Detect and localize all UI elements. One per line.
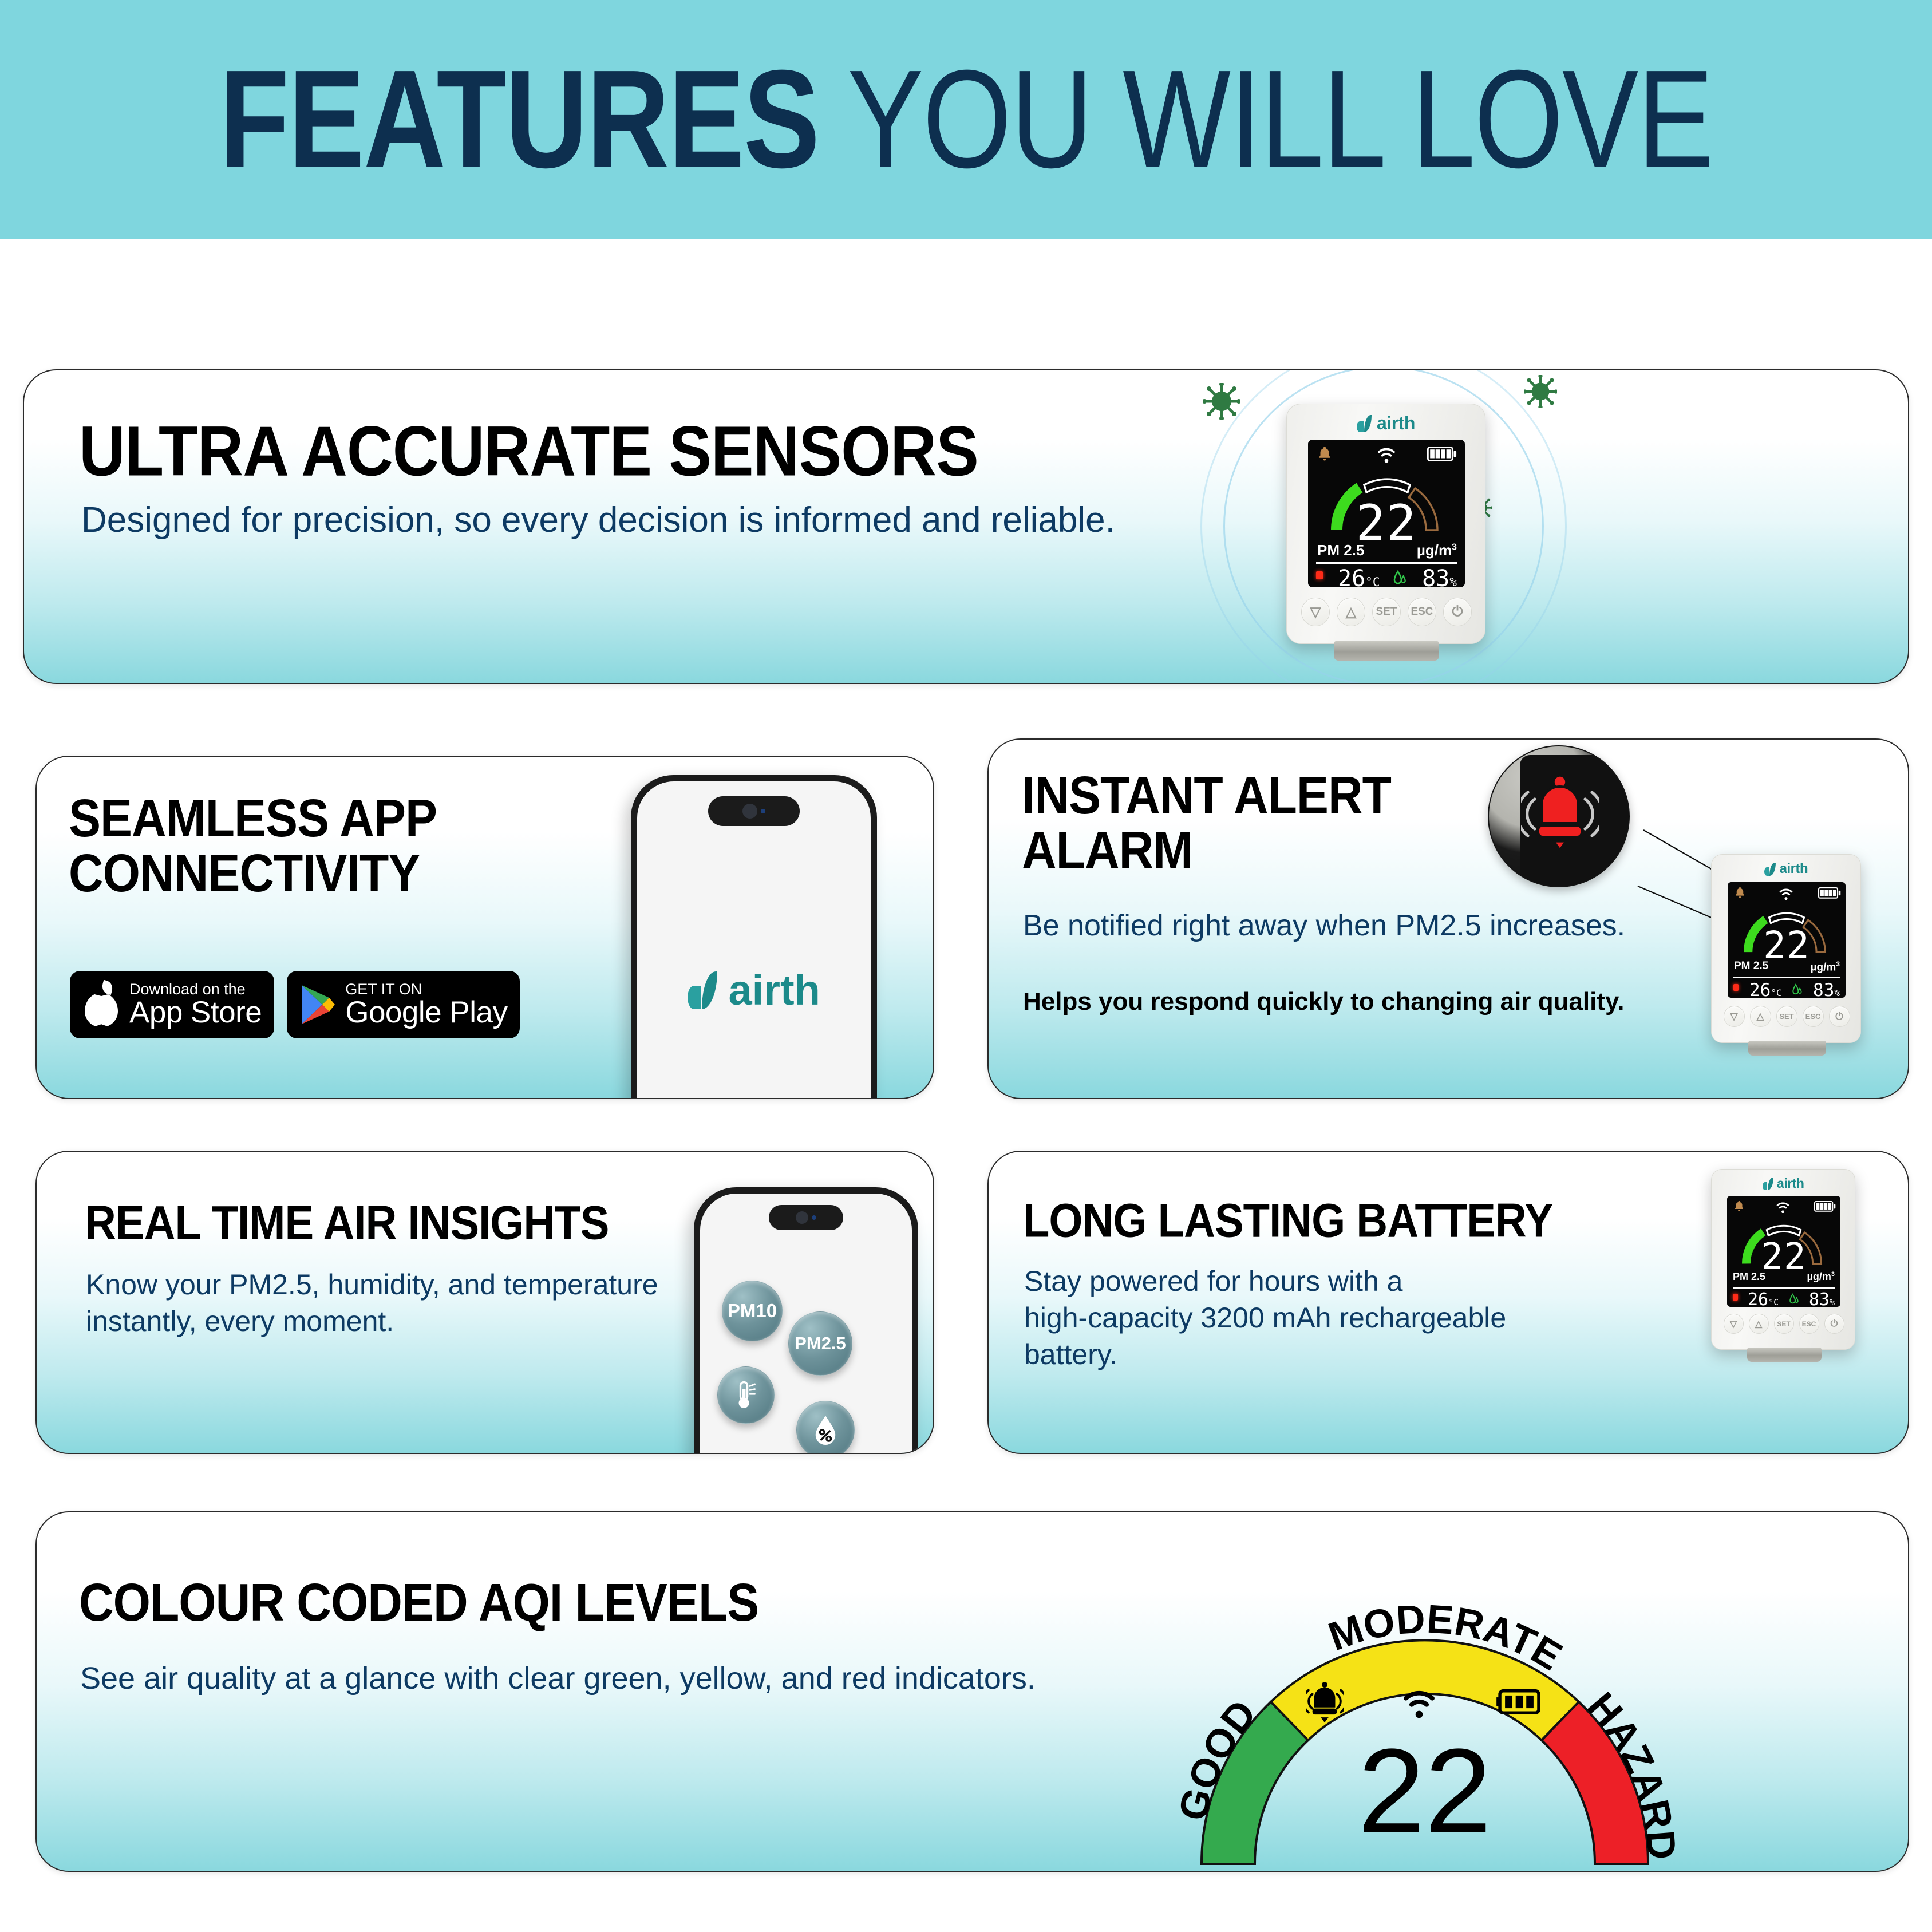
battery-icon bbox=[1427, 447, 1457, 461]
device-temperature-value: 26 bbox=[1338, 566, 1365, 587]
humidity-drop-icon bbox=[1789, 1293, 1800, 1305]
device-temperature-unit: °C bbox=[1365, 575, 1380, 587]
air-monitor-device: airth bbox=[1711, 1169, 1855, 1350]
device-unit-text: µg/m bbox=[1811, 961, 1836, 973]
card-title-app: SEAMLESS APP CONNECTIVITY bbox=[69, 791, 437, 900]
device-button-power[interactable]: ⏻ bbox=[1829, 1006, 1850, 1027]
device-temperature-value: 26 bbox=[1749, 980, 1771, 998]
card-title-realtime: REAL TIME AIR INSIGHTS bbox=[85, 1199, 609, 1248]
device-temperature-reading: 26°C bbox=[1338, 566, 1380, 587]
humidity-drop-icon bbox=[1792, 983, 1803, 996]
device-pm-label: PM 2.5 bbox=[1317, 542, 1364, 559]
device-humidity-unit: % bbox=[1830, 1297, 1835, 1307]
device-temp-indicator-dot bbox=[1733, 984, 1739, 991]
card-title-alert-line1: INSTANT ALERT bbox=[1022, 766, 1391, 825]
apple-icon bbox=[82, 981, 120, 1028]
pill-pm10[interactable]: PM10 bbox=[722, 1281, 783, 1341]
humidity-drop-icon bbox=[1393, 569, 1408, 586]
card-subtitle-sensors: Designed for precision, so every decisio… bbox=[81, 497, 1115, 543]
smartphone-mockup: PM10 PM2.5 bbox=[694, 1187, 918, 1454]
device-unit-exponent: 3 bbox=[1836, 960, 1840, 968]
device-brand-name: airth bbox=[1780, 861, 1808, 877]
aqi-status-icons bbox=[1305, 1681, 1545, 1723]
device-button-power[interactable]: ⏻ bbox=[1443, 598, 1472, 626]
device-button-down[interactable]: ▽ bbox=[1301, 598, 1330, 626]
device-unit-label: µg/m3 bbox=[1417, 542, 1457, 559]
phone-screen: PM10 PM2.5 bbox=[700, 1194, 912, 1454]
phone-brand-logo: airth bbox=[637, 966, 871, 1014]
card-seamless-app-connectivity: SEAMLESS APP CONNECTIVITY Download on th… bbox=[35, 756, 934, 1099]
app-store-badge-big: App Store bbox=[129, 997, 262, 1028]
device-temp-indicator-dot bbox=[1316, 571, 1323, 579]
card-title-alert: INSTANT ALERT ALARM bbox=[1022, 768, 1391, 877]
device-unit-exponent: 3 bbox=[1831, 1271, 1835, 1278]
thermometer-icon bbox=[732, 1380, 760, 1410]
alarm-bell-icon bbox=[1733, 1200, 1745, 1212]
device-stand bbox=[1747, 1348, 1822, 1362]
device-pm-label: PM 2.5 bbox=[1733, 1271, 1765, 1283]
card-title-app-line1: SEAMLESS APP bbox=[69, 789, 437, 848]
app-store-badge-small: Download on the bbox=[129, 981, 262, 997]
page-title: FEATURES YOU WILL LOVE bbox=[219, 50, 1712, 189]
device-button-set[interactable]: SET bbox=[1774, 1314, 1794, 1334]
device-button-set[interactable]: SET bbox=[1372, 598, 1401, 626]
card-subtitle-alert-bold: Helps you respond quickly to changing ai… bbox=[1023, 986, 1624, 1018]
device-button-row[interactable]: ▽ △ SET ESC ⏻ bbox=[1712, 1006, 1862, 1027]
leaf-icon bbox=[1764, 863, 1776, 876]
device-screen: 22 PM 2.5 µg/m3 26°C 83% bbox=[1728, 882, 1846, 998]
device-humidity-value: 83 bbox=[1422, 566, 1449, 587]
app-store-badge[interactable]: Download on the App Store bbox=[70, 971, 274, 1038]
phone-dynamic-island bbox=[769, 1205, 843, 1230]
humidity-drop-icon bbox=[812, 1415, 839, 1445]
infographic-page: FEATURES YOU WILL LOVE ULTRA ACCURATE SE… bbox=[0, 0, 1932, 1932]
device-brand-logo: airth bbox=[1712, 1176, 1855, 1191]
card-title-aqi: COLOUR CODED AQI LEVELS bbox=[79, 1575, 758, 1630]
battery-icon bbox=[1818, 887, 1841, 899]
google-play-badge-small: GET IT ON bbox=[345, 981, 507, 997]
device-screen: 22 PM 2.5 µg/m3 26°C 83% bbox=[1308, 440, 1465, 587]
device-brand-logo: airth bbox=[1712, 861, 1860, 877]
card-ultra-accurate-sensors: ULTRA ACCURATE SENSORS Designed for prec… bbox=[23, 369, 1909, 684]
page-title-bold: FEATURES bbox=[219, 41, 819, 197]
card-subtitle-battery-line2: high-capacity 3200 mAh rechargeable bbox=[1024, 1302, 1506, 1334]
wifi-icon bbox=[1398, 1685, 1440, 1719]
device-screen: 22 PM 2.5 µg/m3 26°C 83% bbox=[1727, 1196, 1840, 1307]
device-pm-label: PM 2.5 bbox=[1734, 960, 1768, 973]
device-unit-text: µg/m bbox=[1807, 1271, 1831, 1282]
device-unit-label: µg/m3 bbox=[1811, 960, 1840, 974]
device-humidity-value: 83 bbox=[1813, 980, 1834, 998]
card-subtitle-realtime: Know your PM2.5, humidity, and temperatu… bbox=[86, 1266, 658, 1340]
phone-screen: airth bbox=[637, 781, 871, 1099]
device-button-row[interactable]: ▽ △ SET ESC ⏻ bbox=[1287, 598, 1486, 626]
device-divider bbox=[1733, 1287, 1835, 1289]
air-monitor-device: airth bbox=[1286, 404, 1485, 644]
device-button-set[interactable]: SET bbox=[1776, 1006, 1797, 1027]
pill-temperature[interactable] bbox=[717, 1366, 775, 1424]
device-button-up[interactable]: △ bbox=[1749, 1314, 1769, 1334]
device-unit-label: µg/m3 bbox=[1807, 1271, 1835, 1283]
alarm-callout-magnifier bbox=[1488, 745, 1630, 887]
device-button-esc[interactable]: ESC bbox=[1803, 1006, 1824, 1027]
device-brand-name: airth bbox=[1377, 413, 1415, 434]
device-button-up[interactable]: △ bbox=[1337, 598, 1365, 626]
device-temperature-value: 26 bbox=[1748, 1290, 1768, 1307]
device-button-row[interactable]: ▽ △ SET ESC ⏻ bbox=[1712, 1314, 1856, 1334]
air-monitor-device: airth bbox=[1711, 854, 1861, 1043]
card-subtitle-battery: Stay powered for hours with a high-capac… bbox=[1024, 1263, 1506, 1373]
smartphone-mockup: airth bbox=[631, 775, 877, 1099]
device-button-power[interactable]: ⏻ bbox=[1824, 1314, 1844, 1334]
device-humidity-unit: % bbox=[1449, 575, 1457, 587]
virus-particle-icon bbox=[1524, 375, 1557, 408]
leaf-icon bbox=[1763, 1178, 1773, 1190]
device-brand-logo: airth bbox=[1287, 413, 1485, 434]
phone-brand-name: airth bbox=[728, 966, 820, 1014]
device-unit-exponent: 3 bbox=[1452, 542, 1457, 552]
device-button-down[interactable]: ▽ bbox=[1724, 1006, 1745, 1027]
device-temperature-unit: °C bbox=[1768, 1297, 1779, 1307]
device-temp-indicator-dot bbox=[1733, 1294, 1738, 1301]
card-title-sensors: ULTRA ACCURATE SENSORS bbox=[79, 415, 978, 488]
card-title-alert-line2: ALARM bbox=[1022, 820, 1192, 879]
device-stand bbox=[1334, 641, 1439, 661]
battery-icon bbox=[1814, 1201, 1836, 1212]
device-temperature-unit: °C bbox=[1771, 987, 1781, 998]
card-instant-alert-alarm: INSTANT ALERT ALARM Be notified right aw… bbox=[987, 738, 1909, 1099]
page-header: FEATURES YOU WILL LOVE bbox=[0, 0, 1932, 239]
card-subtitle-alert: Be notified right away when PM2.5 increa… bbox=[1023, 907, 1625, 945]
alarm-bell-icon bbox=[1521, 774, 1599, 859]
device-temperature-reading: 26°C bbox=[1749, 980, 1782, 998]
card-colour-coded-aqi-levels: COLOUR CODED AQI LEVELS See air quality … bbox=[35, 1511, 1909, 1872]
device-humidity-reading: 83% bbox=[1813, 980, 1840, 998]
device-brand-name: airth bbox=[1777, 1176, 1804, 1191]
card-subtitle-aqi: See air quality at a glance with clear g… bbox=[80, 1659, 1036, 1698]
page-title-light: YOU WILL LOVE bbox=[819, 41, 1712, 197]
aqi-gauge-value: 22 bbox=[1305, 1731, 1545, 1851]
device-divider bbox=[1316, 562, 1457, 564]
google-play-badge-big: Google Play bbox=[345, 997, 507, 1028]
store-badges: Download on the App Store GET IT ON Goog… bbox=[70, 971, 520, 1038]
alarm-bell-icon bbox=[1306, 1681, 1344, 1723]
card-subtitle-realtime-line2: instantly, every moment. bbox=[86, 1305, 394, 1337]
alarm-bell-icon bbox=[1733, 886, 1747, 899]
card-subtitle-realtime-line1: Know your PM2.5, humidity, and temperatu… bbox=[86, 1269, 658, 1301]
device-button-esc[interactable]: ESC bbox=[1799, 1314, 1819, 1334]
phone-dynamic-island bbox=[708, 796, 800, 826]
device-temperature-reading: 26°C bbox=[1748, 1290, 1779, 1307]
battery-icon bbox=[1495, 1688, 1544, 1716]
google-play-badge[interactable]: GET IT ON Google Play bbox=[287, 971, 520, 1038]
card-subtitle-battery-line3: battery. bbox=[1024, 1338, 1117, 1370]
device-humidity-reading: 83% bbox=[1422, 566, 1457, 587]
virus-particle-icon bbox=[1203, 383, 1240, 420]
leaf-icon bbox=[1357, 415, 1372, 432]
device-humidity-reading: 83% bbox=[1809, 1290, 1835, 1307]
device-stand bbox=[1748, 1041, 1826, 1056]
card-title-battery: LONG LASTING BATTERY bbox=[1023, 1196, 1553, 1246]
aqi-gauge-chart: GOOD MODERATE HAZARDOUS bbox=[1116, 1511, 1734, 1872]
card-subtitle-battery-line1: Stay powered for hours with a bbox=[1024, 1265, 1402, 1297]
device-humidity-value: 83 bbox=[1809, 1290, 1830, 1307]
device-humidity-unit: % bbox=[1834, 987, 1840, 998]
leaf-icon bbox=[688, 971, 717, 1009]
device-divider bbox=[1733, 977, 1840, 978]
device-button-up[interactable]: △ bbox=[1750, 1006, 1771, 1027]
pill-pm25[interactable]: PM2.5 bbox=[788, 1311, 852, 1376]
google-play-icon bbox=[299, 984, 336, 1025]
device-button-down[interactable]: ▽ bbox=[1724, 1314, 1744, 1334]
device-unit-text: µg/m bbox=[1417, 542, 1452, 559]
card-title-app-line2: CONNECTIVITY bbox=[69, 843, 420, 902]
card-long-lasting-battery: LONG LASTING BATTERY Stay powered for ho… bbox=[987, 1151, 1909, 1454]
pill-humidity[interactable] bbox=[796, 1401, 855, 1454]
device-button-esc[interactable]: ESC bbox=[1408, 598, 1436, 626]
card-real-time-air-insights: REAL TIME AIR INSIGHTS Know your PM2.5, … bbox=[35, 1151, 934, 1454]
